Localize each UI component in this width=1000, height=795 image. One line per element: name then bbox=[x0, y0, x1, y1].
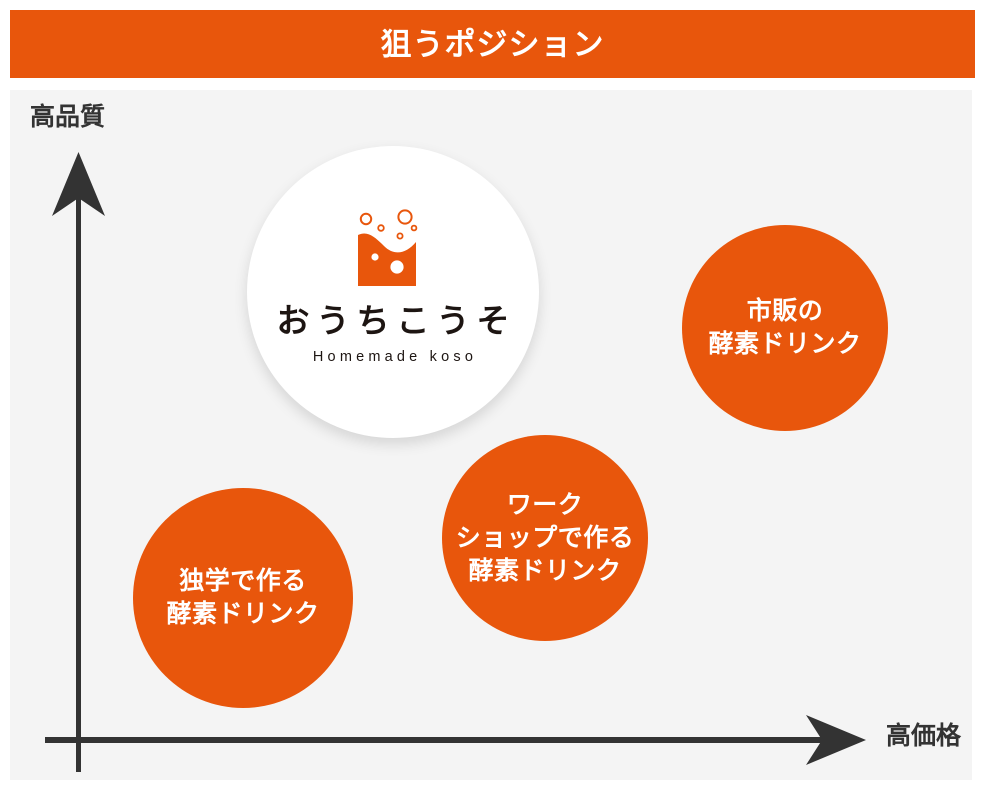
page-title: 狙うポジション bbox=[381, 29, 605, 60]
bubble-workshop-drink-label: ワーク ショップで作る 酵素ドリンク bbox=[456, 489, 635, 588]
bubble-self-taught-drink-label: 独学で作る 酵素ドリンク bbox=[166, 565, 319, 631]
positioning-map: 狙うポジション 高品質 高価格 bbox=[0, 0, 1000, 795]
bubble-self-taught-drink[interactable]: 独学で作る 酵素ドリンク bbox=[133, 488, 353, 708]
logo-wordmark: おうちこうそ bbox=[270, 304, 517, 337]
bubble-commercial-drink-label: 市販の 酵素ドリンク bbox=[708, 295, 861, 361]
header-bar: 狙うポジション bbox=[10, 10, 975, 78]
bubble-commercial-drink[interactable]: 市販の 酵素ドリンク bbox=[682, 225, 888, 431]
bubble-target-position[interactable]: おうちこうそ Homemade koso bbox=[247, 146, 539, 438]
y-axis-label: 高品質 bbox=[30, 105, 105, 130]
logo: おうちこうそ Homemade koso bbox=[270, 208, 517, 365]
koso-jar-icon bbox=[350, 208, 436, 290]
bubble-workshop-drink[interactable]: ワーク ショップで作る 酵素ドリンク bbox=[442, 435, 648, 641]
logo-tagline: Homemade koso bbox=[309, 350, 477, 365]
x-axis-label: 高価格 bbox=[886, 724, 961, 749]
